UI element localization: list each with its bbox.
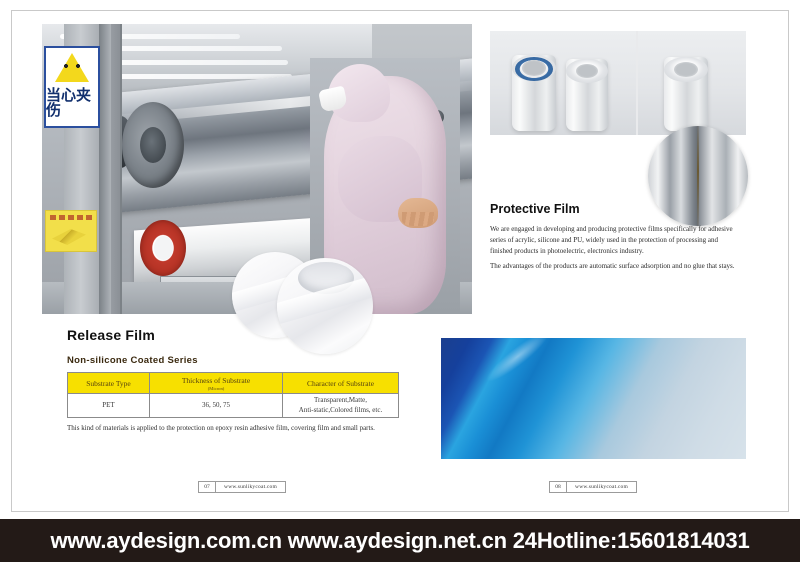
non-silicone-series-subheading: Non-silicone Coated Series xyxy=(67,355,198,366)
page-footer-left: 07 www.sunlikycoat.com xyxy=(198,481,286,493)
cell-character: Transparent,Matte, Anti-static,Colored f… xyxy=(283,394,399,418)
bottom-banner: www.aydesign.com.cn www.aydesign.net.cn … xyxy=(0,519,800,562)
warning-triangle-icon xyxy=(55,53,89,82)
metallic-film-seam xyxy=(697,126,699,226)
roller-flange xyxy=(122,102,184,188)
table-header-thickness-unit: (Micron) xyxy=(151,386,281,391)
film-roll-blue-core xyxy=(512,55,556,131)
table-header-row: Substrate Type Thickness of Substrate (M… xyxy=(68,373,399,394)
roller-flange-center xyxy=(140,127,166,163)
page-footer-right: 08 www.sunlikycoat.com xyxy=(549,481,637,493)
brochure-page: 当心夹伤 Release Film Non-silicone Coated Se… xyxy=(0,0,800,562)
machine-frame-edge xyxy=(99,24,111,314)
blue-film-photo xyxy=(441,338,746,459)
film-roll-circle-crop-b xyxy=(277,258,373,354)
release-film-heading: Release Film xyxy=(67,327,155,343)
cell-character-line2: Anti-static,Colored films, etc. xyxy=(299,406,382,414)
metallic-film-circle-crop xyxy=(648,126,748,226)
release-film-note: This kind of materials is applied to the… xyxy=(67,424,407,434)
rolls-photo-left-panel xyxy=(490,31,636,135)
protective-film-paragraph-1: We are engaged in developing and produci… xyxy=(490,224,736,257)
table-header-character: Character of Substrate xyxy=(283,373,399,394)
protective-film-heading: Protective Film xyxy=(490,202,580,216)
release-film-spec-table: Substrate Type Thickness of Substrate (M… xyxy=(67,372,399,418)
page-number-left: 07 xyxy=(199,482,216,492)
cell-thickness: 36, 50, 75 xyxy=(150,394,283,418)
roll-core xyxy=(674,62,698,77)
protective-film-rolls-photo xyxy=(490,31,746,135)
page-number-right: 08 xyxy=(550,482,567,492)
rolls-photo-right-panel xyxy=(638,31,746,135)
footer-url-right[interactable]: www.sunlikycoat.com xyxy=(567,482,636,492)
roll-core xyxy=(522,60,546,75)
worker-hand xyxy=(398,198,438,228)
cell-character-line1: Transparent,Matte, xyxy=(314,396,367,404)
protective-film-paragraph-2: The advantages of the products are autom… xyxy=(490,261,736,272)
footer-url-left[interactable]: www.sunlikycoat.com xyxy=(216,482,285,492)
cell-substrate-type: PET xyxy=(68,394,150,418)
machine-yellow-label xyxy=(45,210,97,252)
table-header-substrate-type: Substrate Type xyxy=(68,373,150,394)
film-roll-single xyxy=(664,57,708,131)
film-roll-white-core xyxy=(566,59,608,131)
red-core-center xyxy=(154,236,173,260)
banner-contact-text: www.aydesign.com.cn www.aydesign.net.cn … xyxy=(51,528,750,554)
pinch-hazard-warning-sign: 当心夹伤 xyxy=(44,46,100,128)
warning-sign-text: 当心夹伤 xyxy=(46,88,98,118)
table-header-thickness: Thickness of Substrate (Micron) xyxy=(150,373,283,394)
red-core-ring xyxy=(140,220,186,276)
table-row: PET 36, 50, 75 Transparent,Matte, Anti-s… xyxy=(68,394,399,418)
